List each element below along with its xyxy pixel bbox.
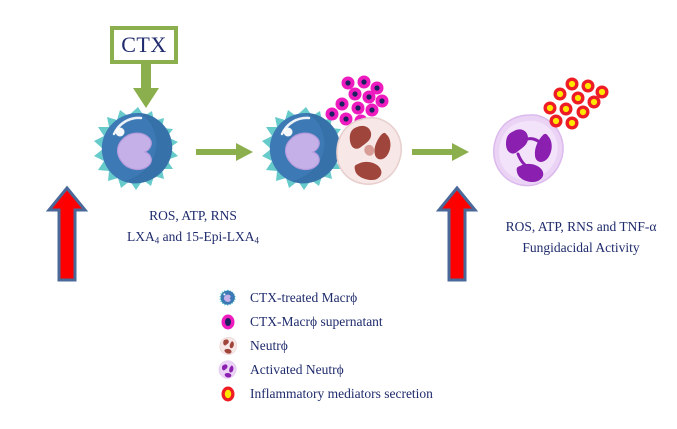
legend-item-neutrophil: Neutrϕ bbox=[218, 334, 548, 358]
caption-right-line-1: ROS, ATP, RNS and TNF-α bbox=[486, 217, 676, 238]
legend-label-activated-neutrophil: Activated Neutrϕ bbox=[250, 362, 344, 378]
legend-label-supernatant: CTX-Macrϕ supernatant bbox=[250, 314, 383, 330]
ctx-box: CTX bbox=[110, 26, 178, 64]
caption-right-line-2: Fungidacidal Activity bbox=[486, 238, 676, 259]
caption-left-line-2: LXA4 and 15-Epi-LXA4 bbox=[100, 227, 286, 248]
inflammatory-mediator-cloud bbox=[542, 78, 612, 130]
legend-label-neutrophil: Neutrϕ bbox=[250, 338, 288, 354]
caption-left-lxa-mid: and 15-Epi-LXA bbox=[159, 229, 254, 244]
macrophage-icon bbox=[218, 288, 238, 308]
legend-label-macrophage: CTX-treated Macrϕ bbox=[250, 290, 357, 306]
stage-1-macrophage bbox=[88, 104, 188, 196]
upregulation-arrow-right bbox=[436, 186, 478, 282]
legend-label-mediators: Inflammatory mediators secretion bbox=[250, 386, 433, 402]
caption-left-sub-2: 4 bbox=[254, 235, 259, 245]
legend-item-mediators: Inflammatory mediators secretion bbox=[218, 382, 548, 406]
ctx-label: CTX bbox=[121, 34, 167, 56]
neutrophil-icon bbox=[218, 336, 238, 356]
caption-left-lxa-prefix: LXA bbox=[127, 229, 155, 244]
legend-item-supernatant: CTX-Macrϕ supernatant bbox=[218, 310, 548, 334]
pathway-diagram: CTX bbox=[0, 0, 677, 429]
upregulation-arrow-left bbox=[46, 186, 88, 282]
macrophage-cell bbox=[94, 107, 178, 190]
legend-item-activated-neutrophil: Activated Neutrϕ bbox=[218, 358, 548, 382]
transition-arrow-2 bbox=[412, 142, 470, 162]
caption-right: ROS, ATP, RNS and TNF-α Fungidacidal Act… bbox=[486, 217, 676, 259]
activated-neutrophil-icon bbox=[218, 360, 238, 380]
legend-item-macrophage: CTX-treated Macrϕ bbox=[218, 286, 548, 310]
caption-left-line-1: ROS, ATP, RNS bbox=[100, 206, 286, 227]
legend: CTX-treated Macrϕ CTX-Macrϕ supernatant bbox=[218, 286, 548, 406]
mediator-circle-icon bbox=[218, 384, 238, 404]
caption-left: ROS, ATP, RNS LXA4 and 15-Epi-LXA4 bbox=[100, 206, 286, 248]
mediator-circles bbox=[544, 78, 609, 130]
neutrophil-cell bbox=[337, 118, 401, 184]
stage-2-neutrophil bbox=[330, 114, 406, 188]
supernatant-dot-icon bbox=[218, 312, 238, 332]
transition-arrow-1 bbox=[196, 142, 254, 162]
